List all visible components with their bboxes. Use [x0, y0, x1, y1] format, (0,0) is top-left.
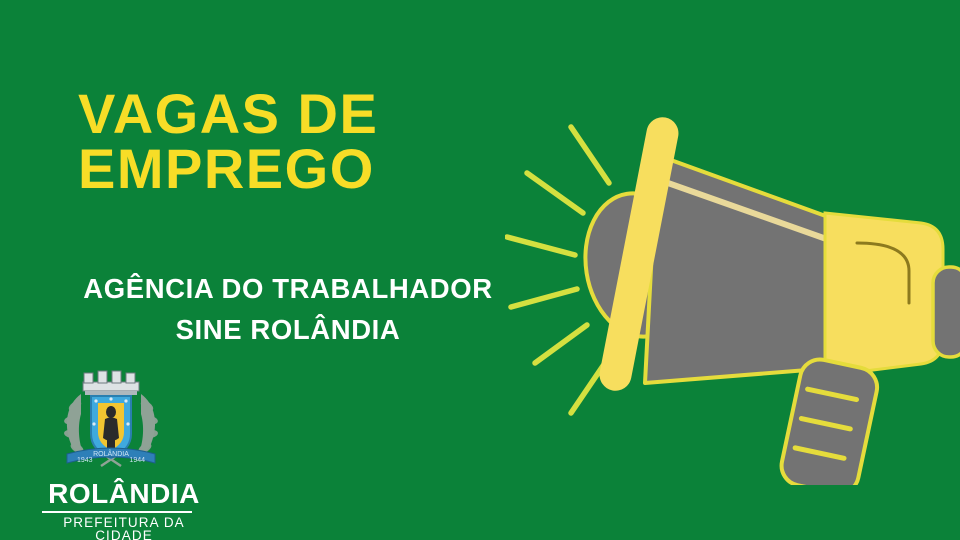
brand-divider — [42, 511, 192, 513]
subtitle: AGÊNCIA DO TRABALHADOR SINE ROLÂNDIA — [28, 268, 548, 351]
poster-canvas: VAGAS DE EMPREGO AGÊNCIA DO TRABALHADOR … — [0, 0, 960, 540]
page-title: VAGAS DE EMPREGO — [78, 86, 498, 197]
megaphone-body — [825, 213, 943, 376]
coat-of-arms: 1943 ROLÂNDIA 1944 — [51, 362, 171, 474]
city-logo: 1943 ROLÂNDIA 1944 ROLÂNDIA PREFEITURA D… — [33, 362, 209, 540]
mural-crown — [83, 371, 139, 395]
megaphone-back-cap — [933, 267, 960, 357]
subtitle-line-2: SINE ROLÂNDIA — [28, 309, 548, 350]
subtitle-line-1: AGÊNCIA DO TRABALHADOR — [28, 268, 548, 309]
brand-name: ROLÂNDIA — [33, 480, 209, 508]
brand-tagline: PREFEITURA DA CIDADE — [33, 516, 209, 540]
ribbon-year-left: 1943 — [77, 457, 93, 464]
coat-of-arms-icon: 1943 ROLÂNDIA 1944 — [51, 362, 171, 474]
ribbon-year-right: 1944 — [129, 457, 145, 464]
megaphone-icon — [505, 95, 960, 485]
megaphone-handle — [778, 356, 881, 485]
ribbon-city-name: ROLÂNDIA — [93, 449, 129, 458]
megaphone-cone — [645, 155, 845, 383]
